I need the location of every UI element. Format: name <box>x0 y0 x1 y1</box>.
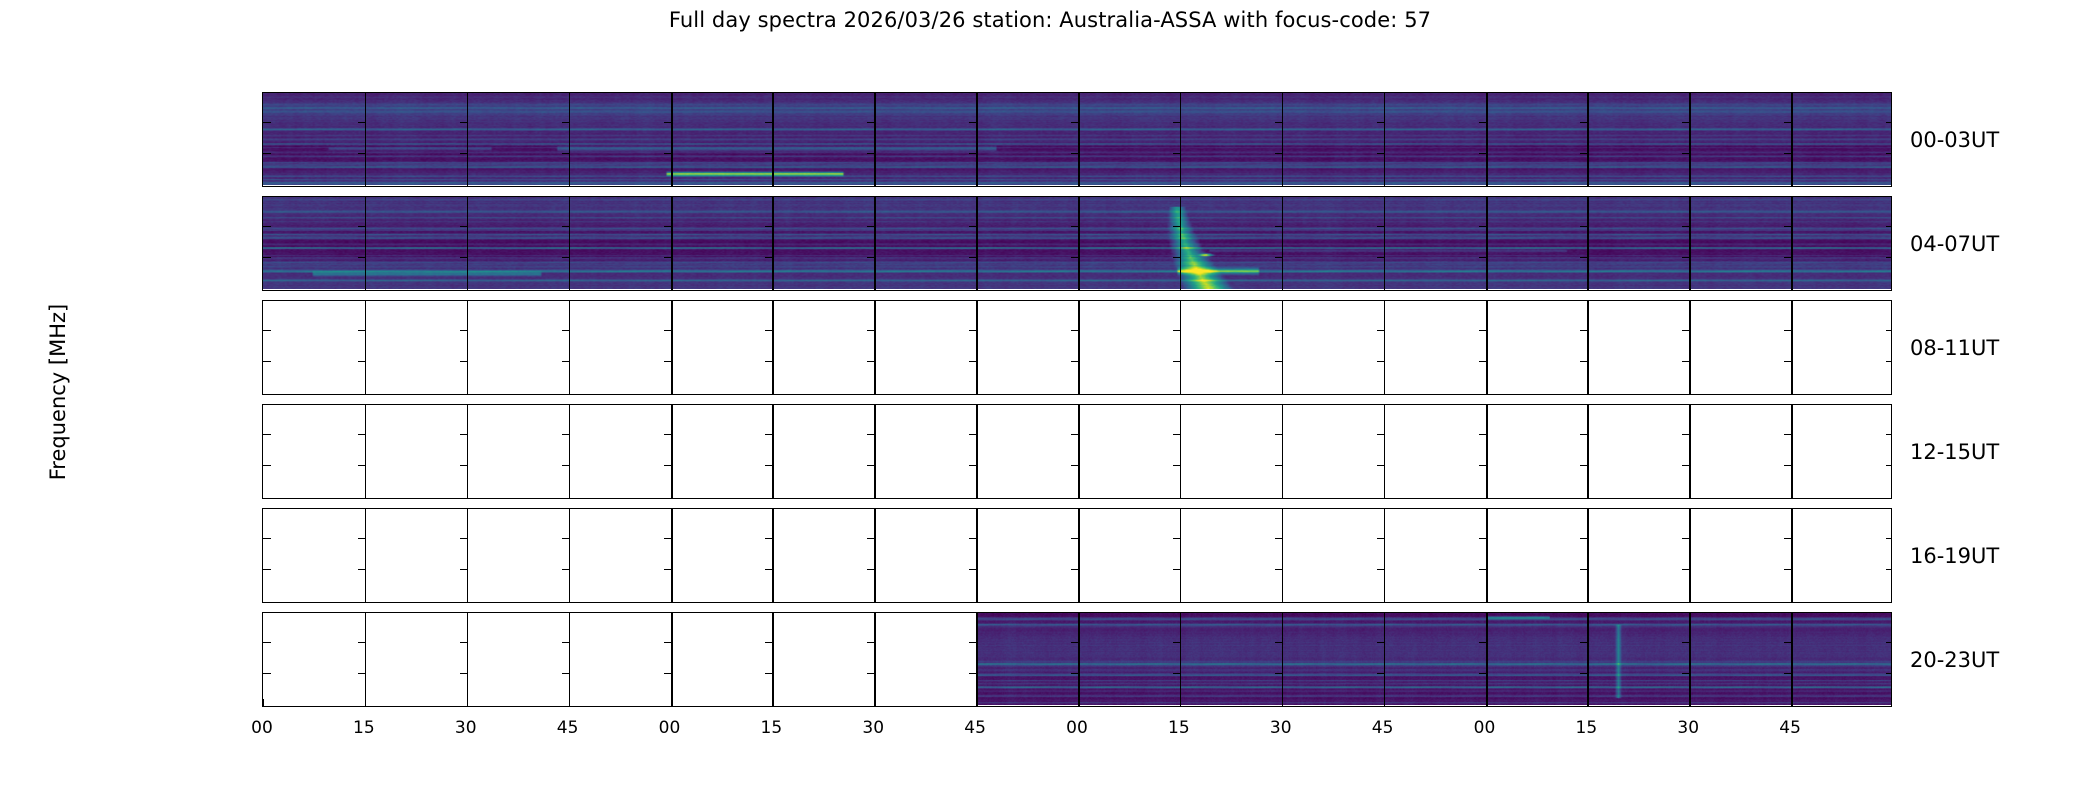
y-tick-mark <box>358 361 365 363</box>
y-tick-mark <box>460 434 467 436</box>
y-tick-mark <box>1784 257 1791 259</box>
y-tick-mark <box>1071 569 1078 571</box>
y-tick-mark <box>1682 226 1689 228</box>
subpanel-divider <box>365 301 366 394</box>
panel-row-08-11ut[interactable]: 300200 <box>262 300 1892 395</box>
subpanel-divider <box>1078 93 1080 186</box>
y-tick-mark <box>562 361 569 363</box>
x-tick-mark <box>1078 699 1079 706</box>
y-tick-mark <box>263 434 271 436</box>
y-tick-mark <box>1275 257 1282 259</box>
y-tick-mark <box>1071 434 1078 436</box>
y-tick-mark <box>1479 153 1486 155</box>
row-label-16-19ut: 16-19UT <box>1910 544 1999 568</box>
y-tick-mark <box>1682 465 1689 467</box>
y-tick-mark <box>765 153 772 155</box>
subpanel-divider <box>569 405 570 498</box>
subpanel-divider <box>976 93 977 186</box>
x-tick-mark <box>1587 699 1588 706</box>
y-tick-mark <box>664 122 671 124</box>
y-tick-mark <box>1173 642 1180 644</box>
y-tick-mark <box>1377 434 1384 436</box>
subpanel-divider <box>1486 405 1488 498</box>
subpanel-divider <box>1791 93 1792 186</box>
y-tick-mark <box>765 226 772 228</box>
y-tick-mark <box>867 642 874 644</box>
y-tick-mark <box>664 257 671 259</box>
y-tick-mark <box>1682 361 1689 363</box>
y-tick-mark <box>1784 122 1791 124</box>
y-tick-mark <box>1479 465 1486 467</box>
y-tick-mark <box>1580 538 1587 540</box>
subpanel-divider <box>874 613 875 706</box>
x-tick-mark <box>569 699 570 706</box>
subpanel-divider <box>1587 405 1588 498</box>
x-tick-mark <box>1486 699 1487 706</box>
subpanel-divider <box>1587 301 1588 394</box>
y-tick-mark <box>867 673 874 675</box>
subpanel-divider <box>1282 301 1283 394</box>
subpanel-divider <box>1180 405 1181 498</box>
y-tick-mark <box>1682 153 1689 155</box>
y-tick-mark <box>664 465 671 467</box>
y-tick-mark <box>1071 673 1078 675</box>
y-tick-mark <box>867 569 874 571</box>
subpanel-divider <box>1282 197 1283 290</box>
subpanel-divider <box>1689 613 1690 706</box>
subpanel-divider <box>1791 613 1792 706</box>
y-tick-mark <box>867 153 874 155</box>
x-tick-mark <box>772 699 773 706</box>
y-tick-mark <box>1580 361 1587 363</box>
x-tick-label: 00 <box>659 718 681 738</box>
x-tick-label: 15 <box>1576 718 1598 738</box>
subpanel-divider <box>671 197 673 290</box>
row-label-04-07ut: 04-07UT <box>1910 232 1999 256</box>
subpanel-divider <box>772 301 773 394</box>
subpanel-divider <box>467 197 468 290</box>
y-tick-mark <box>1173 465 1180 467</box>
x-tick-label: 15 <box>761 718 783 738</box>
y-tick-mark <box>1173 538 1180 540</box>
subpanel-divider <box>1180 197 1181 290</box>
y-tick-mark <box>1071 257 1078 259</box>
x-tick-label: 30 <box>455 718 477 738</box>
subpanel-divider <box>1486 93 1488 186</box>
y-tick-mark <box>1479 122 1486 124</box>
y-tick-mark <box>460 257 467 259</box>
y-tick-mark <box>358 538 365 540</box>
y-tick-mark <box>1275 569 1282 571</box>
y-axis-label: Frequency [MHz] <box>46 262 70 522</box>
y-tick-mark <box>1275 642 1282 644</box>
y-tick-mark <box>1479 330 1486 332</box>
subpanel-divider <box>976 197 977 290</box>
subpanel-divider <box>671 93 673 186</box>
y-tick-mark <box>867 361 874 363</box>
y-tick-mark <box>1784 434 1791 436</box>
y-tick-mark <box>1886 538 1892 540</box>
y-tick-mark <box>1377 330 1384 332</box>
subpanel-divider <box>365 509 366 602</box>
y-tick-mark <box>1580 122 1587 124</box>
y-tick-mark <box>358 673 365 675</box>
y-tick-mark <box>1682 673 1689 675</box>
y-tick-mark <box>1784 330 1791 332</box>
subpanel-divider <box>1384 301 1385 394</box>
y-tick-mark <box>969 257 976 259</box>
y-tick-mark <box>1377 569 1384 571</box>
subpanel-divider <box>467 613 468 706</box>
y-tick-mark <box>358 642 365 644</box>
y-tick-mark <box>1377 257 1384 259</box>
y-tick-mark <box>1071 642 1078 644</box>
y-tick-mark <box>969 122 976 124</box>
y-tick-mark <box>1784 465 1791 467</box>
subpanel-divider <box>365 93 366 186</box>
y-tick-mark <box>1377 153 1384 155</box>
subpanel-divider <box>569 197 570 290</box>
y-tick-mark <box>358 569 365 571</box>
y-tick-mark <box>1580 642 1587 644</box>
y-tick-mark <box>1580 569 1587 571</box>
y-tick-mark <box>1886 569 1892 571</box>
y-tick-mark <box>460 465 467 467</box>
y-tick-mark <box>1071 226 1078 228</box>
y-tick-mark <box>1886 257 1892 259</box>
subpanel-divider <box>671 509 673 602</box>
y-tick-mark <box>263 122 271 124</box>
y-tick-mark <box>1377 226 1384 228</box>
row-label-00-03ut: 00-03UT <box>1910 128 1999 152</box>
y-tick-mark <box>867 434 874 436</box>
x-tick-mark <box>1282 699 1283 706</box>
y-tick-mark <box>664 434 671 436</box>
y-tick-mark <box>460 642 467 644</box>
y-tick-mark <box>562 569 569 571</box>
panel-row-04-07ut[interactable]: 300200 <box>262 196 1892 291</box>
y-tick-mark <box>1275 226 1282 228</box>
subpanel-divider <box>569 613 570 706</box>
x-tick-mark <box>263 699 264 706</box>
x-tick-label: 30 <box>862 718 884 738</box>
y-tick-mark <box>1377 673 1384 675</box>
y-tick-mark <box>1377 361 1384 363</box>
x-tick-label: 45 <box>1779 718 1801 738</box>
y-tick-mark <box>1275 153 1282 155</box>
subpanel-divider <box>671 613 673 706</box>
y-tick-mark <box>358 226 365 228</box>
subpanel-divider <box>976 509 977 602</box>
y-tick-mark <box>1886 226 1892 228</box>
y-tick-mark <box>969 465 976 467</box>
y-tick-mark <box>765 434 772 436</box>
y-tick-mark <box>1479 673 1486 675</box>
y-tick-mark <box>664 538 671 540</box>
subpanel-divider <box>874 405 875 498</box>
y-tick-mark <box>1784 538 1791 540</box>
y-tick-mark <box>1682 434 1689 436</box>
subpanel-divider <box>772 93 773 186</box>
y-tick-mark <box>765 330 772 332</box>
y-tick-mark <box>358 434 365 436</box>
subpanel-divider <box>365 613 366 706</box>
y-tick-mark <box>867 465 874 467</box>
subpanel-divider <box>1486 613 1488 706</box>
subpanel-divider <box>1180 509 1181 602</box>
y-tick-mark <box>1886 642 1892 644</box>
y-tick-mark <box>1580 434 1587 436</box>
y-tick-mark <box>1886 673 1892 675</box>
x-tick-label: 00 <box>1474 718 1496 738</box>
subpanel-divider <box>1180 301 1181 394</box>
y-tick-mark <box>969 153 976 155</box>
y-tick-mark <box>562 153 569 155</box>
subpanel-divider <box>1282 509 1283 602</box>
y-tick-mark <box>562 673 569 675</box>
subpanel-divider <box>1587 613 1588 706</box>
y-tick-mark <box>1682 569 1689 571</box>
subpanel-divider <box>1384 405 1385 498</box>
y-tick-mark <box>867 257 874 259</box>
y-tick-mark <box>1071 361 1078 363</box>
x-tick-label: 30 <box>1677 718 1699 738</box>
row-label-08-11ut: 08-11UT <box>1910 336 1999 360</box>
subpanel-divider <box>1587 197 1588 290</box>
y-tick-mark <box>765 642 772 644</box>
subpanel-divider <box>1689 93 1690 186</box>
y-tick-mark <box>1580 226 1587 228</box>
y-tick-mark <box>1479 226 1486 228</box>
y-tick-mark <box>1580 257 1587 259</box>
y-tick-mark <box>1071 538 1078 540</box>
subpanel-divider <box>1791 197 1792 290</box>
y-tick-mark <box>358 257 365 259</box>
subpanel-divider <box>569 509 570 602</box>
y-tick-mark <box>263 330 271 332</box>
subpanel-divider <box>671 405 673 498</box>
y-tick-mark <box>1377 465 1384 467</box>
subpanel-divider <box>976 405 977 498</box>
y-tick-mark <box>1580 673 1587 675</box>
y-tick-mark <box>664 330 671 332</box>
subpanel-divider <box>1180 613 1181 706</box>
y-tick-mark <box>1377 642 1384 644</box>
subpanel-divider <box>1486 301 1488 394</box>
subpanel-divider <box>467 93 468 186</box>
spectrogram-figure: Full day spectra 2026/03/26 station: Aus… <box>0 0 2100 800</box>
subpanel-divider <box>671 301 673 394</box>
y-tick-mark <box>1580 153 1587 155</box>
x-tick-mark <box>976 699 977 706</box>
y-tick-mark <box>969 673 976 675</box>
subpanel-divider <box>365 197 366 290</box>
y-tick-mark <box>1275 538 1282 540</box>
y-tick-mark <box>1886 434 1892 436</box>
subpanel-divider <box>1078 197 1080 290</box>
y-tick-mark <box>969 642 976 644</box>
y-tick-mark <box>1071 465 1078 467</box>
y-tick-mark <box>263 153 271 155</box>
subpanel-divider <box>467 509 468 602</box>
subpanel-divider <box>365 405 366 498</box>
x-tick-mark <box>874 699 875 706</box>
y-tick-mark <box>460 330 467 332</box>
y-tick-mark <box>263 538 271 540</box>
subpanel-divider <box>874 301 875 394</box>
y-tick-mark <box>1173 673 1180 675</box>
x-tick-label: 45 <box>964 718 986 738</box>
x-tick-label: 30 <box>1270 718 1292 738</box>
y-tick-mark <box>1886 361 1892 363</box>
y-tick-mark <box>263 361 271 363</box>
y-tick-mark <box>1886 153 1892 155</box>
y-tick-mark <box>1275 330 1282 332</box>
x-tick-mark <box>467 699 468 706</box>
y-tick-mark <box>562 330 569 332</box>
y-tick-mark <box>969 330 976 332</box>
y-tick-mark <box>263 569 271 571</box>
y-tick-mark <box>1275 361 1282 363</box>
y-tick-mark <box>460 226 467 228</box>
panel-row-00-03ut[interactable]: 300200 <box>262 92 1892 187</box>
x-tick-mark <box>671 699 672 706</box>
subpanel-divider <box>772 509 773 602</box>
y-tick-mark <box>1173 434 1180 436</box>
y-tick-mark <box>1173 226 1180 228</box>
y-tick-mark <box>562 538 569 540</box>
y-tick-mark <box>1173 257 1180 259</box>
y-tick-mark <box>664 361 671 363</box>
subpanel-divider <box>772 613 773 706</box>
subpanel-divider <box>1486 197 1488 290</box>
y-tick-mark <box>263 673 271 675</box>
y-tick-mark <box>460 569 467 571</box>
y-tick-mark <box>1886 330 1892 332</box>
y-tick-mark <box>1071 330 1078 332</box>
panel-row-20-23ut[interactable]: 300200 <box>262 612 1892 707</box>
y-tick-mark <box>562 465 569 467</box>
x-tick-label: 00 <box>1066 718 1088 738</box>
y-tick-mark <box>664 226 671 228</box>
y-tick-mark <box>1784 673 1791 675</box>
y-tick-mark <box>664 642 671 644</box>
y-tick-mark <box>562 226 569 228</box>
subpanel-divider <box>1791 405 1792 498</box>
x-tick-label: 15 <box>353 718 375 738</box>
y-tick-mark <box>1479 257 1486 259</box>
y-tick-mark <box>1275 465 1282 467</box>
subpanel-divider <box>772 405 773 498</box>
subpanel-divider <box>1078 509 1080 602</box>
y-tick-mark <box>1173 122 1180 124</box>
subpanel-divider <box>1384 93 1385 186</box>
y-tick-mark <box>1173 361 1180 363</box>
subpanel-divider <box>1689 405 1690 498</box>
y-tick-mark <box>1173 330 1180 332</box>
x-tick-mark <box>1180 699 1181 706</box>
y-tick-mark <box>1682 122 1689 124</box>
x-tick-label: 45 <box>1372 718 1394 738</box>
y-tick-mark <box>263 465 271 467</box>
y-tick-mark <box>1479 569 1486 571</box>
y-tick-mark <box>765 569 772 571</box>
panel-row-12-15ut[interactable]: 300200 <box>262 404 1892 499</box>
y-tick-mark <box>562 642 569 644</box>
y-tick-mark <box>765 538 772 540</box>
y-tick-mark <box>1784 226 1791 228</box>
y-tick-mark <box>1173 569 1180 571</box>
y-tick-mark <box>969 226 976 228</box>
y-tick-mark <box>1682 538 1689 540</box>
y-tick-mark <box>1071 122 1078 124</box>
spectrogram-image <box>976 613 1892 705</box>
x-tick-mark <box>1384 699 1385 706</box>
x-tick-mark <box>1791 699 1792 706</box>
panel-row-16-19ut[interactable]: 300200 <box>262 508 1892 603</box>
subpanel-divider <box>1384 613 1385 706</box>
row-label-20-23ut: 20-23UT <box>1910 648 1999 672</box>
y-tick-mark <box>1479 642 1486 644</box>
y-tick-mark <box>765 257 772 259</box>
x-tick-mark <box>365 699 366 706</box>
y-tick-mark <box>460 673 467 675</box>
y-tick-mark <box>562 434 569 436</box>
subpanel-divider <box>976 613 977 706</box>
y-tick-mark <box>1886 465 1892 467</box>
subpanel-divider <box>1689 509 1690 602</box>
y-tick-mark <box>358 122 365 124</box>
subpanel-divider <box>1078 301 1080 394</box>
x-tick-label: 45 <box>557 718 579 738</box>
subpanel-divider <box>1587 509 1588 602</box>
y-tick-mark <box>358 153 365 155</box>
y-tick-mark <box>1682 257 1689 259</box>
subpanel-divider <box>1078 613 1080 706</box>
y-tick-mark <box>460 122 467 124</box>
y-tick-mark <box>1682 330 1689 332</box>
y-tick-mark <box>765 122 772 124</box>
subpanel-divider <box>467 405 468 498</box>
figure-title: Full day spectra 2026/03/26 station: Aus… <box>0 8 2100 32</box>
y-tick-mark <box>1580 330 1587 332</box>
subpanel-divider <box>772 197 773 290</box>
subpanel-divider <box>1180 93 1181 186</box>
subpanel-divider <box>874 93 875 186</box>
subpanel-divider <box>1078 405 1080 498</box>
y-tick-mark <box>1275 673 1282 675</box>
subpanel-divider <box>1384 509 1385 602</box>
y-tick-mark <box>1784 153 1791 155</box>
subpanel-divider <box>569 93 570 186</box>
y-tick-mark <box>765 465 772 467</box>
y-tick-mark <box>1377 538 1384 540</box>
y-tick-mark <box>460 361 467 363</box>
y-tick-mark <box>1886 122 1892 124</box>
x-tick-label: 15 <box>1168 718 1190 738</box>
y-tick-mark <box>1784 361 1791 363</box>
y-tick-mark <box>969 538 976 540</box>
y-tick-mark <box>1580 465 1587 467</box>
subpanel-divider <box>467 301 468 394</box>
subpanel-divider <box>1282 405 1283 498</box>
y-tick-mark <box>1479 434 1486 436</box>
y-tick-mark <box>969 569 976 571</box>
y-tick-mark <box>867 330 874 332</box>
y-tick-mark <box>263 642 271 644</box>
panel-grid: 300200300200300200300200300200300200 <box>262 92 1892 712</box>
y-tick-mark <box>867 538 874 540</box>
